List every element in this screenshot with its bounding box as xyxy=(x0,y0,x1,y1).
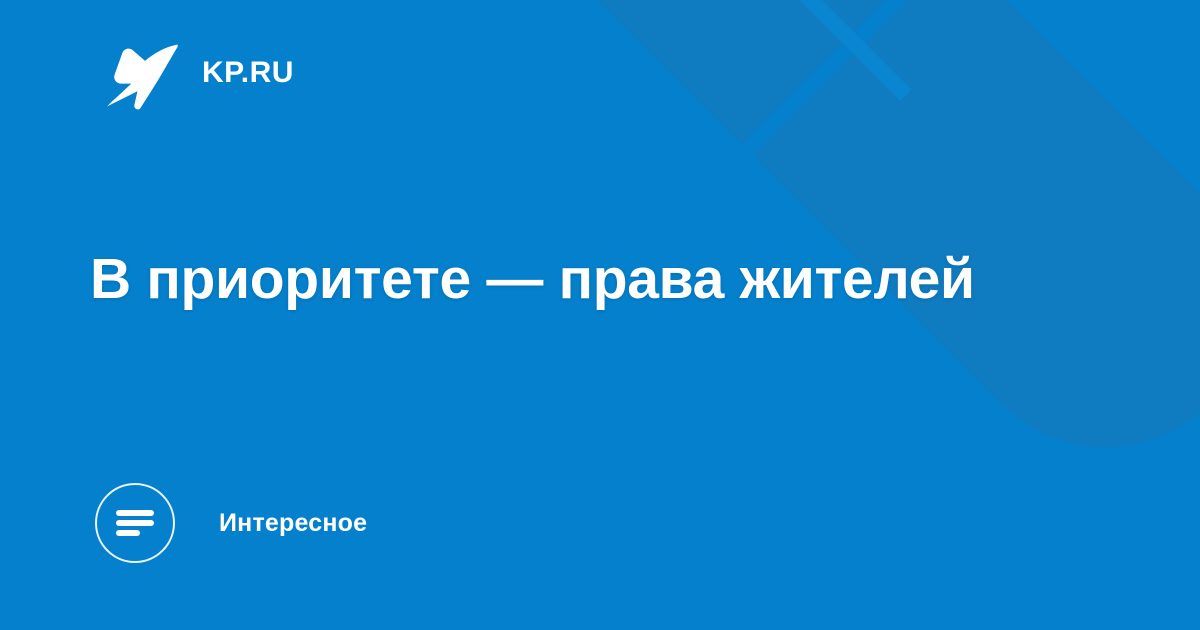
hamburger-lines-icon xyxy=(116,510,154,536)
hamburger-line-2 xyxy=(116,520,154,526)
hamburger-line-3 xyxy=(116,530,140,536)
site-logo[interactable]: KP.RU xyxy=(104,36,294,110)
category-row[interactable]: Интересное xyxy=(95,483,367,563)
page-title: В приоритете — права жителей xyxy=(90,246,1100,312)
swallow-bird-icon xyxy=(104,35,180,111)
social-share-card: KP.RU В приоритете — права жителей Интер… xyxy=(0,0,1200,630)
logo-wordmark: KP.RU xyxy=(202,58,294,88)
category-badge[interactable] xyxy=(95,483,175,563)
category-label: Интересное xyxy=(219,509,367,538)
hamburger-line-1 xyxy=(116,510,154,516)
